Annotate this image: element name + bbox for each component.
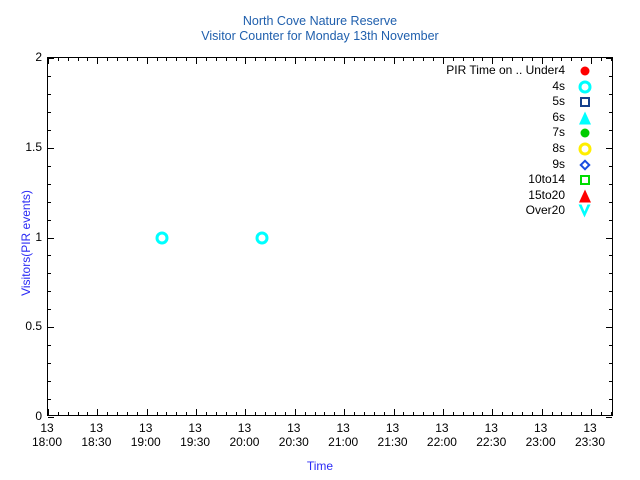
y-axis-tick: [606, 238, 612, 239]
x-axis-minor-tick: [611, 412, 612, 415]
x-axis-tick: [492, 409, 493, 415]
x-axis-minor-tick: [433, 58, 434, 61]
x-axis-minor-tick: [236, 412, 237, 415]
x-axis-minor-tick: [453, 412, 454, 415]
x-axis-minor-tick: [552, 58, 553, 61]
y-axis-minor-tick: [48, 345, 51, 346]
x-axis-minor-tick: [502, 58, 503, 61]
legend-row[interactable]: PIR Time on .. Under4: [300, 63, 600, 79]
x-axis-minor-tick: [522, 412, 523, 415]
x-axis-minor-tick: [384, 58, 385, 61]
x-axis-minor-tick: [236, 58, 237, 61]
legend-label: Over20: [526, 203, 565, 217]
x-axis-tick: [295, 409, 296, 415]
x-axis-tick: [196, 58, 197, 64]
x-axis-minor-tick: [107, 58, 108, 61]
x-axis-tick: [245, 409, 246, 415]
y-axis-minor-tick: [48, 220, 51, 221]
x-axis-minor-tick: [571, 58, 572, 61]
x-axis-minor-tick: [275, 58, 276, 61]
x-axis-minor-tick: [482, 412, 483, 415]
legend-marker: [570, 110, 600, 126]
x-axis-minor-tick: [552, 412, 553, 415]
x-axis-minor-tick: [255, 58, 256, 61]
x-axis-minor-tick: [305, 58, 306, 61]
y-axis-tick: [48, 238, 54, 239]
legend-marker: [570, 141, 600, 157]
y-axis-minor-tick: [609, 166, 612, 167]
x-axis-minor-tick: [502, 412, 503, 415]
legend-row[interactable]: 9s: [300, 157, 600, 173]
x-axis-tick: [147, 409, 148, 415]
legend-row[interactable]: 15to20: [300, 188, 600, 204]
legend-label: 7s: [552, 125, 565, 139]
x-axis-minor-tick: [315, 412, 316, 415]
x-axis-tick: [97, 58, 98, 64]
legend-label: 15to20: [528, 188, 565, 202]
y-axis-tick: [48, 417, 54, 418]
x-axis-minor-tick: [127, 58, 128, 61]
legend-marker: [570, 94, 600, 110]
legend-marker-glyph: [579, 189, 591, 202]
data-point-4s: [155, 231, 168, 244]
y-axis-minor-tick: [609, 345, 612, 346]
x-axis-minor-tick: [571, 412, 572, 415]
y-axis-minor-tick: [609, 184, 612, 185]
x-axis-minor-tick: [216, 58, 217, 61]
x-axis-minor-tick: [601, 58, 602, 61]
x-axis-minor-tick: [334, 58, 335, 61]
x-axis-minor-tick: [354, 58, 355, 61]
x-axis-minor-tick: [157, 58, 158, 61]
x-axis-minor-tick: [107, 412, 108, 415]
y-axis-minor-tick: [609, 94, 612, 95]
y-axis-minor-tick: [48, 381, 51, 382]
y-axis-tick: [606, 58, 612, 59]
legend-row[interactable]: 6s: [300, 110, 600, 126]
x-axis-minor-tick: [216, 412, 217, 415]
x-axis-minor-tick: [127, 412, 128, 415]
x-axis-minor-tick: [561, 412, 562, 415]
x-axis-tick: [295, 58, 296, 64]
y-axis-minor-tick: [48, 363, 51, 364]
x-axis-minor-tick: [384, 412, 385, 415]
y-axis-tick: [606, 417, 612, 418]
y-axis-tick: [48, 148, 54, 149]
x-axis-minor-tick: [453, 58, 454, 61]
x-axis-minor-tick: [423, 412, 424, 415]
x-axis-minor-tick: [166, 58, 167, 61]
x-axis-tick: [394, 409, 395, 415]
x-axis-minor-tick: [186, 58, 187, 61]
x-axis-tick: [591, 409, 592, 415]
x-tick-label: 1323:30: [550, 421, 630, 449]
x-axis-minor-tick: [354, 412, 355, 415]
y-axis-minor-tick: [48, 130, 51, 131]
x-axis-minor-tick: [512, 58, 513, 61]
legend-marker-glyph: [581, 129, 590, 138]
legend-label: 6s: [552, 110, 565, 124]
x-axis-minor-tick: [157, 412, 158, 415]
legend-marker-glyph: [579, 80, 592, 93]
legend-marker-glyph: [579, 111, 591, 124]
y-axis-minor-tick: [609, 112, 612, 113]
legend-label: PIR Time on .. Under4: [446, 63, 565, 77]
x-axis-minor-tick: [532, 412, 533, 415]
x-axis-minor-tick: [265, 412, 266, 415]
x-axis-tick: [196, 409, 197, 415]
legend-marker: [570, 125, 600, 141]
x-axis-minor-tick: [561, 58, 562, 61]
legend: PIR Time on .. Under44s5s6s7s8s9s10to141…: [300, 63, 600, 219]
legend-marker: [570, 157, 600, 173]
x-axis-minor-tick: [186, 412, 187, 415]
x-axis-minor-tick: [176, 412, 177, 415]
y-axis-tick: [606, 327, 612, 328]
x-axis-minor-tick: [463, 58, 464, 61]
x-axis-minor-tick: [117, 58, 118, 61]
legend-row[interactable]: 10to14: [300, 172, 600, 188]
x-axis-tick: [97, 409, 98, 415]
legend-marker: [570, 203, 600, 219]
y-axis-minor-tick: [609, 363, 612, 364]
y-axis-minor-tick: [48, 273, 51, 274]
x-axis-minor-tick: [581, 58, 582, 61]
y-axis-minor-tick: [48, 76, 51, 77]
x-axis-minor-tick: [364, 58, 365, 61]
y-axis-minor-tick: [609, 255, 612, 256]
y-axis-minor-tick: [48, 291, 51, 292]
x-axis-minor-tick: [601, 412, 602, 415]
x-axis-minor-tick: [473, 412, 474, 415]
chart-canvas: North Cove Nature Reserve Visitor Counte…: [0, 0, 640, 480]
x-axis-minor-tick: [482, 58, 483, 61]
y-axis-tick: [48, 58, 54, 59]
x-axis-minor-tick: [117, 412, 118, 415]
y-axis-minor-tick: [609, 309, 612, 310]
legend-marker-glyph: [581, 67, 590, 76]
x-axis-minor-tick: [315, 58, 316, 61]
x-tick-label-day: 13: [550, 421, 630, 435]
x-axis-minor-tick: [532, 58, 533, 61]
legend-label: 4s: [552, 79, 565, 93]
x-axis-minor-tick: [68, 58, 69, 61]
legend-label: 9s: [552, 157, 565, 171]
x-axis-minor-tick: [58, 412, 59, 415]
y-axis-tick: [48, 327, 54, 328]
x-axis-minor-tick: [512, 412, 513, 415]
x-axis-minor-tick: [285, 58, 286, 61]
x-axis-minor-tick: [137, 58, 138, 61]
legend-marker: [570, 188, 600, 204]
legend-label: 10to14: [528, 172, 565, 186]
y-axis-minor-tick: [609, 381, 612, 382]
data-point-4s: [255, 231, 268, 244]
y-axis-minor-tick: [48, 184, 51, 185]
x-axis-minor-tick: [166, 412, 167, 415]
x-axis-minor-tick: [364, 412, 365, 415]
x-axis-minor-tick: [255, 412, 256, 415]
x-axis-minor-tick: [433, 412, 434, 415]
legend-row[interactable]: 8s: [300, 141, 600, 157]
legend-row[interactable]: 5s: [300, 94, 600, 110]
y-axis-minor-tick: [609, 220, 612, 221]
x-axis-tick: [245, 58, 246, 64]
x-axis-tick: [344, 409, 345, 415]
y-axis-minor-tick: [48, 112, 51, 113]
x-axis-minor-tick: [78, 412, 79, 415]
y-axis-minor-tick: [48, 202, 51, 203]
x-axis-minor-tick: [324, 58, 325, 61]
x-axis-minor-tick: [324, 412, 325, 415]
y-axis-minor-tick: [609, 399, 612, 400]
legend-row[interactable]: Over20: [300, 203, 600, 219]
y-axis-minor-tick: [48, 94, 51, 95]
x-tick-label-time: 23:30: [550, 435, 630, 449]
x-axis-minor-tick: [226, 412, 227, 415]
x-axis-minor-tick: [206, 412, 207, 415]
y-axis-tick: [606, 148, 612, 149]
x-axis-minor-tick: [374, 412, 375, 415]
legend-marker-glyph: [579, 159, 590, 170]
x-axis-minor-tick: [265, 58, 266, 61]
y-axis-minor-tick: [48, 399, 51, 400]
legend-row[interactable]: 7s: [300, 125, 600, 141]
x-axis-minor-tick: [226, 58, 227, 61]
x-axis-minor-tick: [463, 412, 464, 415]
x-axis-minor-tick: [334, 412, 335, 415]
x-axis-minor-tick: [275, 412, 276, 415]
legend-marker: [570, 172, 600, 188]
x-axis-minor-tick: [58, 58, 59, 61]
legend-marker-glyph: [580, 97, 590, 107]
x-axis-minor-tick: [176, 58, 177, 61]
x-axis-minor-tick: [581, 412, 582, 415]
x-axis-tick: [147, 58, 148, 64]
x-axis-minor-tick: [68, 412, 69, 415]
y-axis-minor-tick: [609, 130, 612, 131]
x-axis-minor-tick: [413, 412, 414, 415]
legend-label: 8s: [552, 141, 565, 155]
y-axis-minor-tick: [609, 273, 612, 274]
x-axis-minor-tick: [413, 58, 414, 61]
x-axis-minor-tick: [403, 58, 404, 61]
x-axis-minor-tick: [403, 412, 404, 415]
legend-marker-glyph: [580, 175, 590, 185]
x-axis-minor-tick: [423, 58, 424, 61]
x-axis-minor-tick: [374, 58, 375, 61]
x-axis-minor-tick: [522, 58, 523, 61]
legend-marker-glyph: [579, 142, 592, 155]
x-axis-tick: [48, 409, 49, 415]
legend-marker: [570, 63, 600, 79]
x-axis-minor-tick: [78, 58, 79, 61]
legend-label: 5s: [552, 94, 565, 108]
x-axis-minor-tick: [473, 58, 474, 61]
x-axis-tick: [443, 409, 444, 415]
y-axis-minor-tick: [609, 202, 612, 203]
x-axis-minor-tick: [206, 58, 207, 61]
x-axis-minor-tick: [87, 412, 88, 415]
y-axis-minor-tick: [48, 309, 51, 310]
x-axis-minor-tick: [87, 58, 88, 61]
x-axis-minor-tick: [137, 412, 138, 415]
y-axis-minor-tick: [48, 255, 51, 256]
legend-row[interactable]: 4s: [300, 79, 600, 95]
x-axis-minor-tick: [305, 412, 306, 415]
y-axis-minor-tick: [609, 76, 612, 77]
legend-marker: [570, 79, 600, 95]
x-axis-minor-tick: [285, 412, 286, 415]
y-axis-minor-tick: [609, 291, 612, 292]
x-axis-tick: [542, 409, 543, 415]
y-axis-minor-tick: [48, 166, 51, 167]
legend-marker-glyph: [579, 205, 592, 218]
